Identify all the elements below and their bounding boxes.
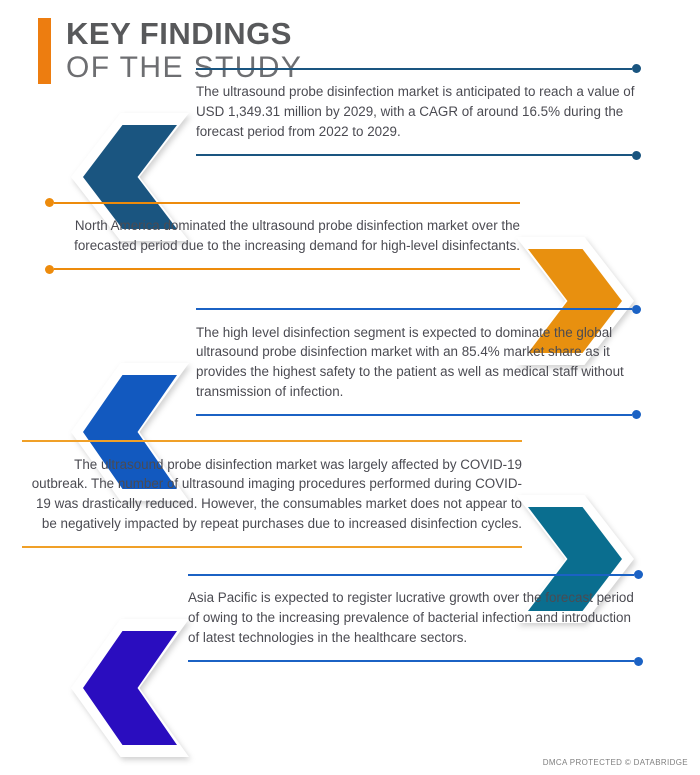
connector-dot	[45, 198, 54, 207]
connector-line	[196, 151, 641, 160]
connector-dot	[632, 151, 641, 160]
connector-line	[188, 657, 643, 666]
connector-bar	[196, 154, 632, 156]
connector-bar	[196, 414, 632, 416]
finding-content: The ultrasound probe disinfection market…	[196, 64, 641, 159]
connector-line	[22, 437, 522, 446]
header-accent-bar	[38, 18, 51, 84]
connector-bar	[54, 268, 520, 270]
connector-dot	[634, 657, 643, 666]
connector-bar	[54, 202, 520, 204]
connector-line	[196, 64, 641, 73]
connector-line	[45, 198, 520, 207]
finding-text: The ultrasound probe disinfection market…	[22, 446, 522, 543]
connector-dot	[632, 64, 641, 73]
finding-text: Asia Pacific is expected to register luc…	[188, 579, 643, 656]
finding-text: The high level disinfection segment is e…	[196, 314, 641, 411]
connector-bar	[188, 574, 634, 576]
connector-bar	[196, 68, 632, 70]
connector-dot	[632, 410, 641, 419]
connector-bar	[188, 660, 634, 662]
connector-dot	[632, 305, 641, 314]
finding-content: The ultrasound probe disinfection market…	[22, 437, 522, 552]
page-title: KEY FINDINGS	[66, 18, 302, 51]
finding-text: North America dominated the ultrasound p…	[45, 207, 520, 264]
finding-content: North America dominated the ultrasound p…	[45, 198, 520, 273]
connector-bar	[22, 440, 522, 442]
connector-line	[188, 570, 643, 579]
connector-bar	[196, 308, 632, 310]
finding-content: Asia Pacific is expected to register luc…	[188, 570, 643, 665]
connector-line	[196, 305, 641, 314]
connector-dot	[634, 570, 643, 579]
chevron-arrow-icon	[70, 618, 190, 758]
connector-line	[22, 542, 522, 551]
connector-line	[196, 410, 641, 419]
connector-bar	[22, 546, 522, 548]
footer-copyright: DMCA PROTECTED © DATABRIDGE	[543, 758, 688, 767]
finding-text: The ultrasound probe disinfection market…	[196, 73, 641, 150]
connector-line	[45, 265, 520, 274]
finding-content: The high level disinfection segment is e…	[196, 305, 641, 420]
connector-dot	[45, 265, 54, 274]
